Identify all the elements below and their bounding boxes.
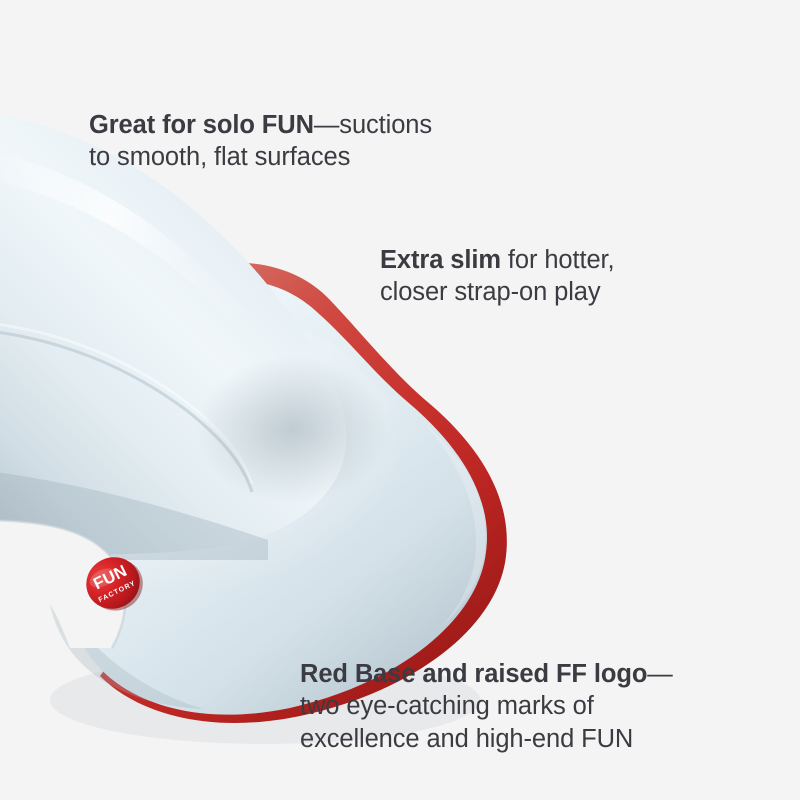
callout-red-base-lead: Red Base and raised FF logo [300,660,647,688]
callout-extra-slim: Extra slim for hotter, closer strap-on p… [380,211,680,309]
crown-shadow [196,356,388,504]
callout-solo-fun-lead: Great for solo FUN [89,111,314,139]
product-infographic: FUN FACTORY FUN FACTORY Great for solo F… [0,0,800,800]
callout-extra-slim-lead: Extra slim [380,246,501,274]
callout-solo-fun: Great for solo FUN—suctions to smooth, f… [89,76,519,174]
callout-red-base: Red Base and raised FF logo— two eye-cat… [300,625,720,756]
